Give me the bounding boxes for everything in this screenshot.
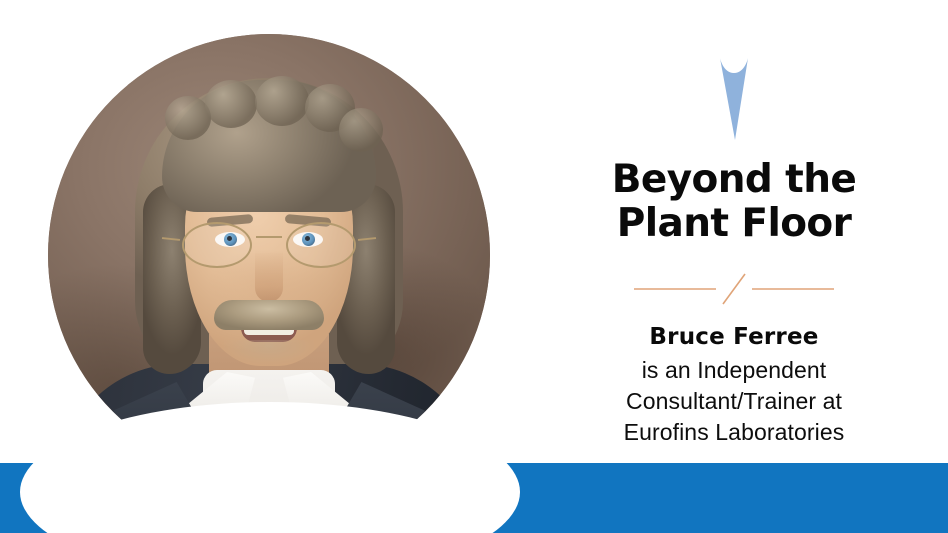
podcast-promo-card: Beyond the Plant Floor Bruce Ferree is a… <box>0 0 948 533</box>
hair-curl <box>205 80 257 128</box>
nose <box>255 250 283 302</box>
guest-role-line-3: Eurofins Laboratories <box>520 417 948 448</box>
show-title-line-2: Plant Floor <box>520 202 948 246</box>
show-title-line-1: Beyond the <box>520 158 948 202</box>
hair-curl <box>255 76 309 126</box>
glasses-bridge <box>256 236 282 238</box>
hair-curl <box>339 108 383 152</box>
slash-divider-icon <box>634 272 834 306</box>
lens-right <box>286 222 356 268</box>
mustache <box>214 300 324 330</box>
text-column: Beyond the Plant Floor Bruce Ferree is a… <box>520 0 948 463</box>
lens-left <box>182 222 252 268</box>
show-title: Beyond the Plant Floor <box>520 158 948 246</box>
guest-role-line-1: is an Independent <box>520 355 948 386</box>
guest-role-line-2: Consultant/Trainer at <box>520 386 948 417</box>
guest-info: Bruce Ferree is an Independent Consultan… <box>520 322 948 448</box>
guest-name: Bruce Ferree <box>520 322 948 352</box>
droplet-accent-icon <box>719 57 749 141</box>
guest-role: is an Independent Consultant/Trainer at … <box>520 355 948 448</box>
